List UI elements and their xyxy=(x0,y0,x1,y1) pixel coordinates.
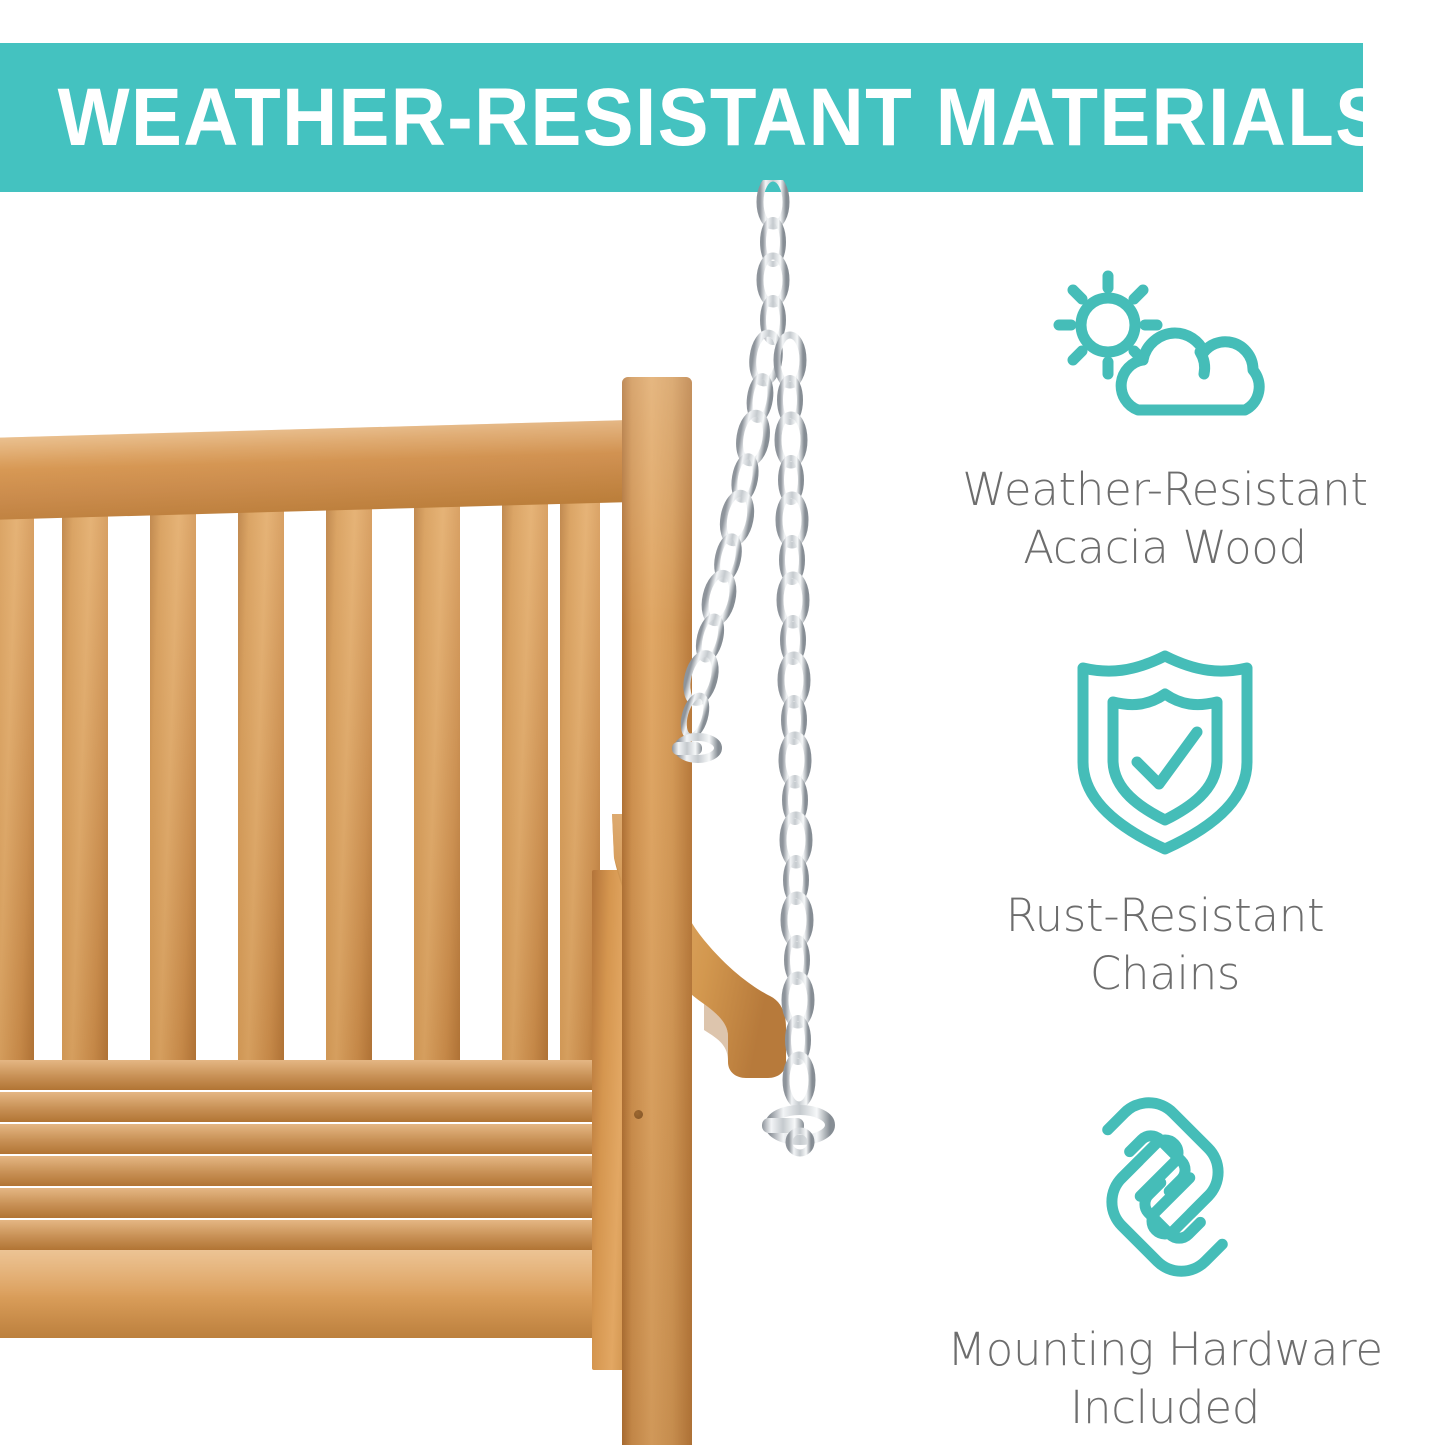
back-slat xyxy=(238,492,284,1066)
seat-slat xyxy=(0,1060,690,1090)
seat-slat xyxy=(0,1188,690,1218)
feature-mounting-hardware-included: Mounting Hardware Included xyxy=(905,1080,1425,1436)
back-slat xyxy=(326,494,372,1066)
shield-check-icon xyxy=(1075,650,1255,855)
seat-slat xyxy=(0,1220,690,1250)
page-title: WEATHER-RESISTANT MATERIALS xyxy=(0,77,1387,159)
back-slat xyxy=(62,488,108,1066)
header-banner: WEATHER-RESISTANT MATERIALS xyxy=(0,43,1363,192)
seat-slat xyxy=(0,1092,690,1122)
seat-slat xyxy=(0,1124,690,1154)
back-slat xyxy=(150,490,196,1066)
sun-cloud-icon xyxy=(1050,270,1280,435)
product-feature-infographic: WEATHER-RESISTANT MATERIALS xyxy=(0,0,1445,1445)
back-slat xyxy=(502,498,548,1066)
seat-slats xyxy=(0,1060,690,1255)
post-screw-icon xyxy=(634,1110,643,1119)
back-slat xyxy=(414,496,460,1066)
feature-list: Weather-Resistant Acacia Wood Rust-Resis… xyxy=(905,270,1425,1437)
feature-label: Mounting Hardware Included xyxy=(947,1321,1383,1436)
chain-link-icon xyxy=(1065,1080,1265,1295)
eye-bolt-lower xyxy=(762,1110,830,1153)
chain-diagonal-left xyxy=(680,332,782,739)
feature-label: Rust-Resistant Chains xyxy=(1006,887,1325,1002)
seat-slat xyxy=(0,1156,690,1186)
product-image-porch-swing xyxy=(0,180,880,1445)
feature-label: Weather-Resistant Acacia Wood xyxy=(962,461,1367,576)
feature-rust-resistant-chains: Rust-Resistant Chains xyxy=(905,650,1425,1002)
front-apron-rail xyxy=(0,1250,690,1338)
back-slat xyxy=(0,485,34,1065)
right-support-post xyxy=(622,377,692,1445)
feature-weather-resistant-acacia-wood: Weather-Resistant Acacia Wood xyxy=(905,270,1425,576)
chain-upper xyxy=(760,180,786,342)
